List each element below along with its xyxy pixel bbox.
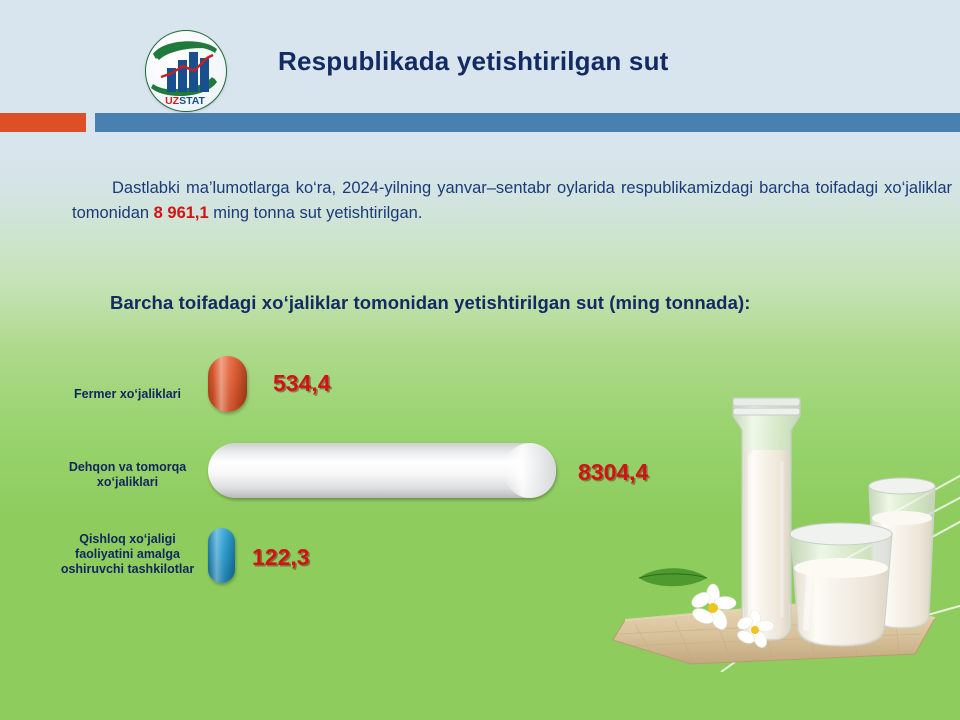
category-label-dehqon: Dehqon va tomorqa xo‘jaliklari: [50, 460, 205, 490]
category-label-fermer: Fermer xo‘jaliklari: [50, 387, 205, 402]
divider-accent-blue: [95, 113, 960, 132]
chart-title: Barcha toifadagi xo‘jaliklar tomonidan y…: [110, 292, 750, 314]
bar-tashkilotlar: [208, 528, 235, 583]
bar-fermer: [208, 356, 247, 412]
bar-dehqon: [208, 443, 556, 498]
category-label-tashkilotlar: Qishloq xo‘jaligi faoliyatini amalga osh…: [50, 532, 205, 577]
paragraph-text-after: ming tonna sut yetishtirilgan.: [209, 204, 423, 222]
milk-total-highlight: 8 961,1: [154, 204, 209, 222]
value-label-fermer: 534,4: [273, 370, 331, 397]
divider-accent-orange: [0, 113, 86, 132]
milk-products-photo: [595, 372, 960, 672]
svg-text:UZSTAT: UZSTAT: [165, 95, 205, 107]
logo-graphic: UZSTAT: [145, 30, 225, 110]
slide-canvas: UZSTAT Respublikada yetishtirilgan sut D…: [0, 0, 960, 720]
page-title: Respublikada yetishtirilgan sut: [278, 46, 669, 77]
uzstat-logo: UZSTAT: [142, 27, 228, 113]
intro-paragraph: Dastlabki ma’lumotlarga ko‘ra, 2024-yiln…: [72, 176, 952, 226]
value-label-dehqon: 8304,4: [578, 459, 648, 486]
value-label-tashkilotlar: 122,3: [252, 544, 310, 571]
